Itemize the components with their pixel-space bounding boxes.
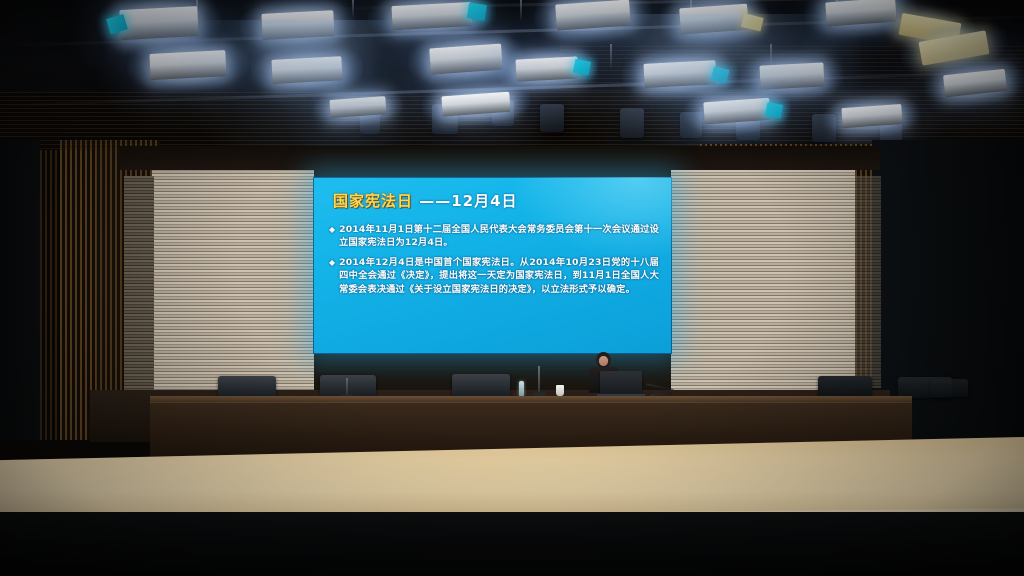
- light-hanger: [520, 0, 522, 20]
- left-edge-shadow: [0, 140, 40, 440]
- slide-bullet: ◆ 2014年12月4日是中国首个国家宪法日。从2014年10月23日党的十八届…: [329, 256, 659, 296]
- stage-light-fixture: [703, 98, 770, 125]
- water-bottle: [519, 381, 524, 396]
- moving-head-fixture: [680, 112, 702, 138]
- stage-light-fixture: [391, 2, 472, 30]
- stage-light-fixture: [643, 60, 716, 88]
- stage-light-fixture: [825, 0, 897, 26]
- bullet-marker-icon: ◆: [329, 256, 335, 296]
- light-hanger: [770, 44, 772, 66]
- wall-slat-panel-left-edge: [124, 176, 154, 390]
- auditorium-photo: 国家宪法日 ——12月4日 ◆ 2014年11月1日第十二届全国人民代表大会常务…: [0, 0, 1024, 576]
- slide-title: 国家宪法日 ——12月4日: [333, 190, 518, 211]
- wall-slat-panel-right-edge: [855, 176, 881, 388]
- moving-head-fixture: [540, 104, 564, 132]
- slide-bullet: ◆ 2014年11月1日第十二届全国人民代表大会常务委员会第十一次会议通过设立国…: [329, 223, 659, 250]
- panel-chair: [930, 379, 968, 397]
- stage-light-fixture: [271, 56, 342, 84]
- desk-microphone: [538, 366, 540, 394]
- panel-chair: [452, 374, 510, 397]
- slide-bullet-text: 2014年11月1日第十二届全国人民代表大会常务委员会第十一次会议通过设立国家宪…: [339, 223, 659, 250]
- stage-light-fixture: [119, 6, 198, 40]
- slide-bullet-list: ◆ 2014年11月1日第十二届全国人民代表大会常务委员会第十一次会议通过设立国…: [329, 223, 659, 302]
- slide-bullet-text: 2014年12月4日是中国首个国家宪法日。从2014年10月23日党的十八届四中…: [339, 256, 659, 296]
- panel-chair: [818, 376, 872, 397]
- stage-apron: [0, 512, 1024, 576]
- stage-light-fixture: [429, 44, 503, 75]
- stage-light-fixture: [149, 50, 226, 80]
- light-hanger: [352, 0, 354, 16]
- moving-head-fixture: [620, 108, 644, 138]
- paper-cup: [556, 385, 564, 396]
- light-hanger: [610, 44, 612, 68]
- stage-light-fixture: [515, 56, 578, 81]
- bullet-marker-icon: ◆: [329, 223, 335, 250]
- stage-light-fixture: [555, 0, 631, 31]
- wall-header-band: [120, 146, 880, 170]
- slide-title-rest: ——12月4日: [413, 192, 518, 210]
- moving-head-fixture: [812, 114, 836, 142]
- stage-light-fixture: [841, 104, 902, 128]
- stage-light-fixture: [759, 62, 824, 89]
- stage-light-fixture: [261, 10, 334, 40]
- wall-slat-panel-right: [671, 170, 855, 392]
- slide-title-highlight: 国家宪法日: [333, 192, 413, 210]
- wall-slat-panel-left: [152, 168, 314, 392]
- panel-chair: [218, 376, 276, 398]
- stage-light-fixture: [679, 4, 749, 35]
- projection-screen[interactable]: 国家宪法日 ——12月4日 ◆ 2014年11月1日第十二届全国人民代表大会常务…: [313, 177, 672, 354]
- presenter-face: [599, 356, 608, 366]
